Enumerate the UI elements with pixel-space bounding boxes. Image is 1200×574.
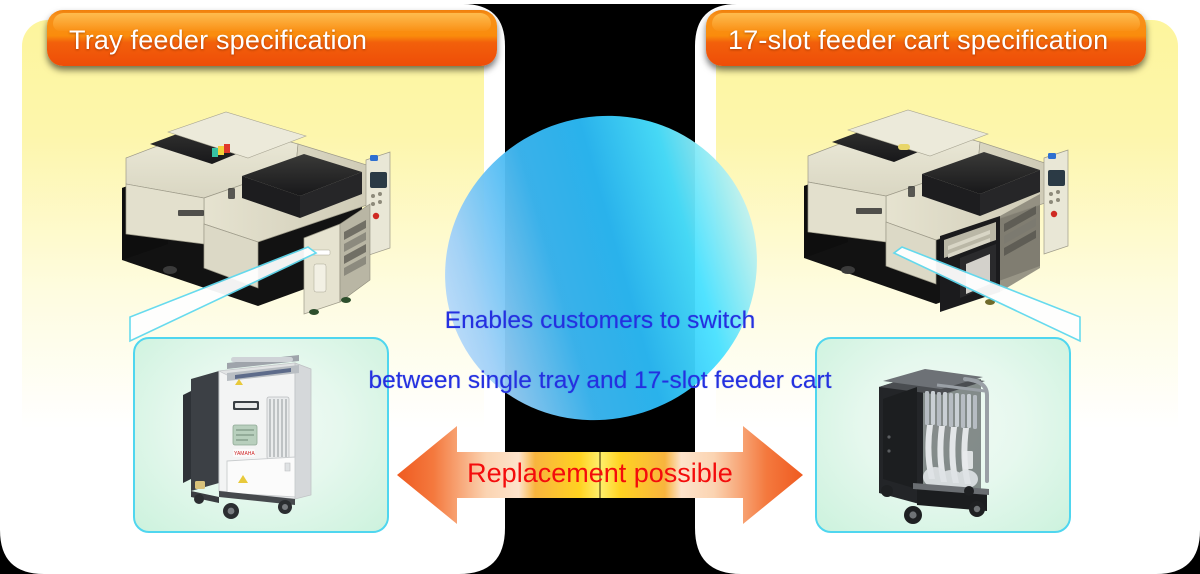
badge-17-slot-feeder-cart-label: 17-slot feeder cart specification: [706, 25, 1130, 56]
top-edge-strip: [0, 0, 1200, 4]
center-caption: Enables customers to switch between sing…: [330, 276, 870, 425]
center-caption-line-2: between single tray and 17-slot feeder c…: [330, 366, 870, 396]
badge-17-slot-feeder-cart-specification[interactable]: 17-slot feeder cart specification: [706, 10, 1146, 66]
diagram-stage: YAMAHA: [0, 0, 1200, 574]
badge-tray-feeder-specification[interactable]: Tray feeder specification: [47, 10, 497, 66]
badge-tray-feeder-label: Tray feeder specification: [47, 25, 389, 56]
arrow-label: Replacement possible: [395, 450, 805, 496]
center-caption-line-1: Enables customers to switch: [330, 306, 870, 336]
svg-text:YAMAHA: YAMAHA: [234, 451, 255, 457]
